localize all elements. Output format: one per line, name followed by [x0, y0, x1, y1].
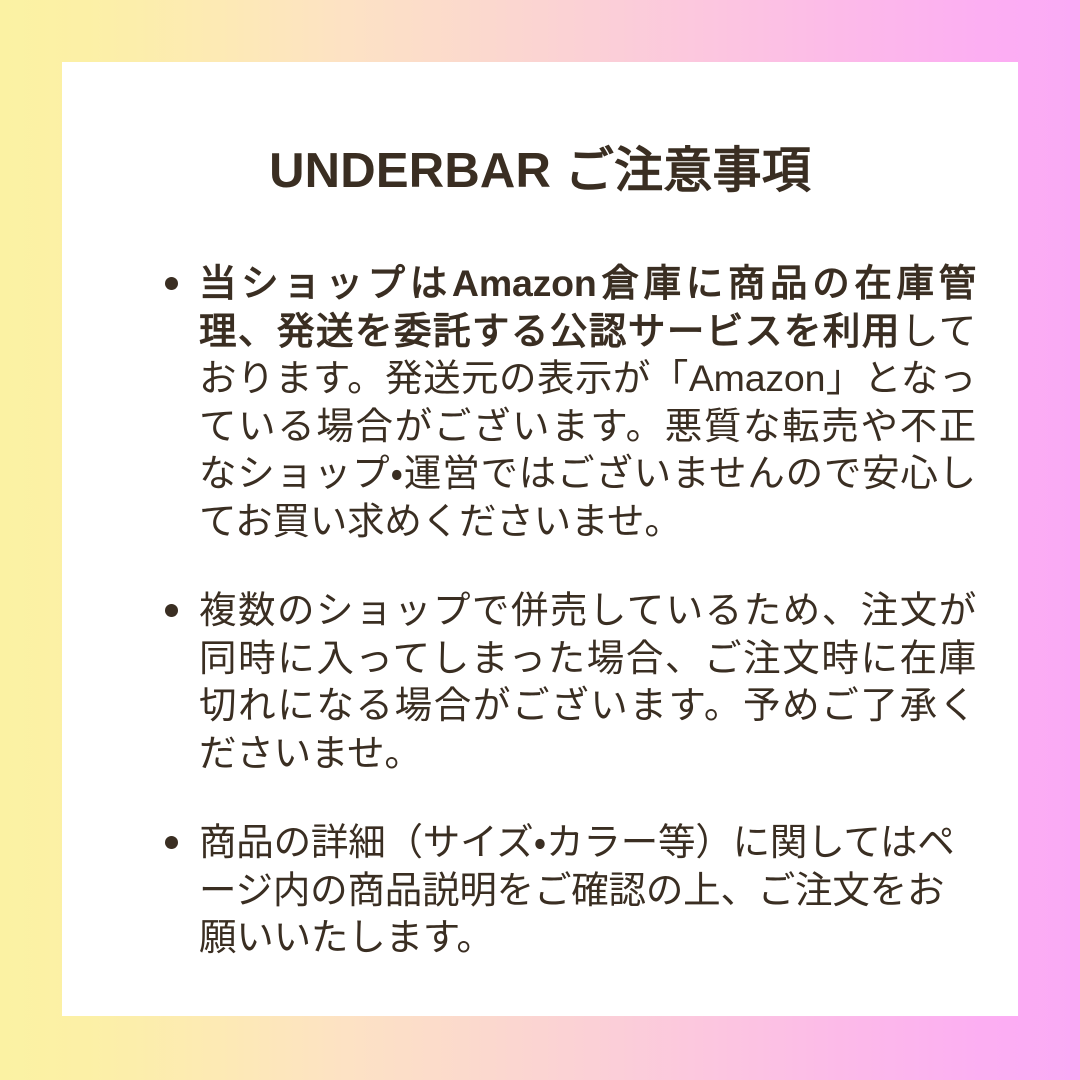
list-item: 複数のショップで併売しているため、注文が同時に入ってしまった場合、ご注文時に在庫… — [108, 587, 976, 777]
list-item: 商品の詳細（サイズ・カラー等）に関してはページ内の商品説明をご確認の上、ご注文を… — [108, 819, 976, 962]
notice-text-product-detail: 商品の詳細（サイズ・カラー等）に関してはページ内の商品説明をご確認の上、ご注文を… — [199, 819, 976, 962]
notice-bullet-list: 当ショップはAmazon倉庫に商品の在庫管理、発送を委託する公認サービスを利用し… — [108, 260, 976, 962]
notice-text-multi-shop-stock: 複数のショップで併売しているため、注文が同時に入ってしまった場合、ご注文時に在庫… — [199, 587, 976, 777]
filled-circle-bullet-icon — [165, 836, 178, 849]
notice-text-amazon-fulfillment: 当ショップはAmazon倉庫に商品の在庫管理、発送を委託する公認サービスを利用し… — [199, 260, 976, 545]
notice-bold-segment: 当ショップはAmazon倉庫に商品の在庫管理、発送を委託する公認サービスを利用 — [199, 262, 976, 352]
filled-circle-bullet-icon — [165, 277, 178, 290]
page-title: UNDERBAR ご注意事項 — [62, 143, 1018, 199]
filled-circle-bullet-icon — [165, 604, 178, 617]
list-item: 当ショップはAmazon倉庫に商品の在庫管理、発送を委託する公認サービスを利用し… — [108, 260, 976, 545]
notice-graphic-canvas: UNDERBAR ご注意事項 当ショップはAmazon倉庫に商品の在庫管理、発送… — [0, 0, 1080, 1080]
notice-card: UNDERBAR ご注意事項 当ショップはAmazon倉庫に商品の在庫管理、発送… — [62, 62, 1018, 1016]
